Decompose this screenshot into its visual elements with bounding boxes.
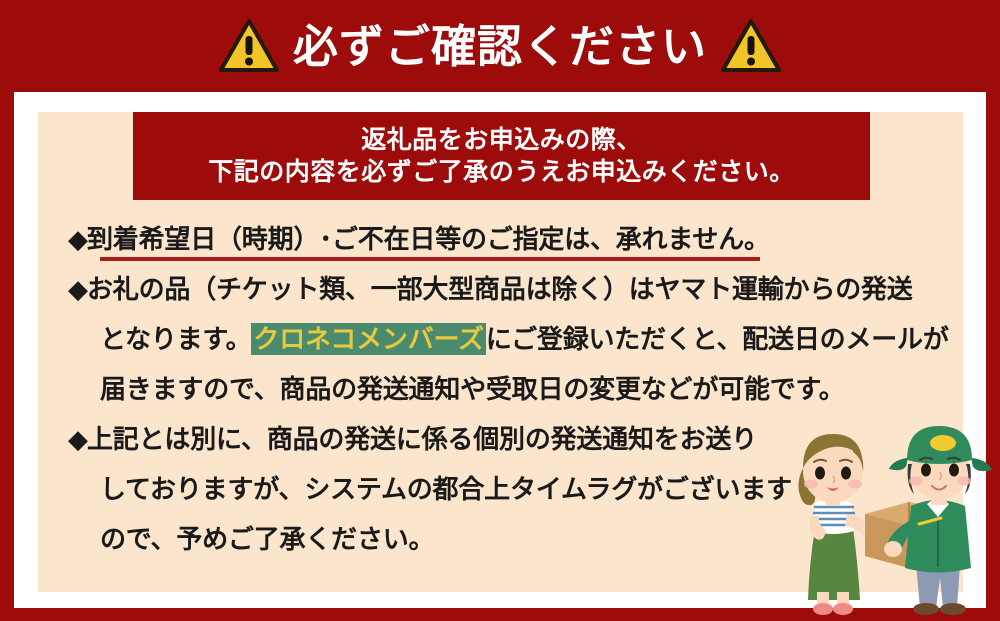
bullet-item-2-text-a: お礼の品（チケット類、一部大型商品は除く）はヤマト運輸からの発送 [87,274,913,304]
bullet-item-2-text-b: となります。 [100,324,251,354]
bullet-item-2-text-d: 届きますので、商品の発送通知や受取日の変更などが可能です。 [100,374,845,404]
notice-line-2: 下記の内容を必ずご了承のうえお申込みください。 [208,157,795,188]
bullet-item-2-line-2: となります。クロネコメンバーズにご登録いただくと、配送日のメールが [68,314,968,364]
bullet-item-2-line-3: 届きますので、商品の発送通知や受取日の変更などが可能です。 [68,364,968,414]
kuroneko-members-highlight[interactable]: クロネコメンバーズ [251,323,485,355]
warning-triangle-icon [219,18,279,74]
warning-triangle-icon [721,18,781,74]
notice-banner-page: 必ずご確認ください 返礼品をお申込みの際、 下記の内容を必ずご了承のうえお申込み… [0,0,1000,621]
bullet-marker-icon: ◆ [68,274,87,304]
red-underline [100,257,760,261]
bullet-item-3-line-1: ◆上記とは別に、商品の発送に係る個別の発送通知をお送り [68,414,968,464]
bullet-item-3-text-b: しておりますが、システムの都合上タイムラグがございます [100,474,792,504]
bullet-item-3-line-2: しておりますが、システムの都合上タイムラグがございます [68,464,968,514]
bullet-item-1-line-1: ◆到着希望日（時期）･ご不在日等のご指定は、承れません。 [68,214,968,264]
page-title: 必ずご確認ください [293,24,707,69]
bullet-item-3-line-3: ので、予めご了承ください。 [68,514,968,564]
bullet-marker-icon: ◆ [68,224,87,254]
header-band: 必ずご確認ください [0,0,1000,92]
notice-block: 返礼品をお申込みの際、 下記の内容を必ずご了承のうえお申込みください。 [133,112,870,200]
bullet-item-2-text-c: にご登録いただくと、配送日のメールが [486,324,949,354]
bottom-red-band [0,608,1000,621]
bullet-item-3-text-c: ので、予めご了承ください。 [100,524,434,554]
bullet-item-1-text: 到着希望日（時期）･ご不在日等のご指定は、承れません。 [87,224,770,254]
bullet-item-3-text-a: 上記とは別に、商品の発送に係る個別の発送通知をお送り [87,424,757,454]
bullet-item-2-line-1: ◆お礼の品（チケット類、一部大型商品は除く）はヤマト運輸からの発送 [68,264,968,314]
body-text: ◆到着希望日（時期）･ご不在日等のご指定は、承れません。 ◆お礼の品（チケット類… [68,214,968,564]
notice-line-1: 返礼品をお申込みの際、 [361,125,642,156]
bullet-marker-icon: ◆ [68,424,87,454]
